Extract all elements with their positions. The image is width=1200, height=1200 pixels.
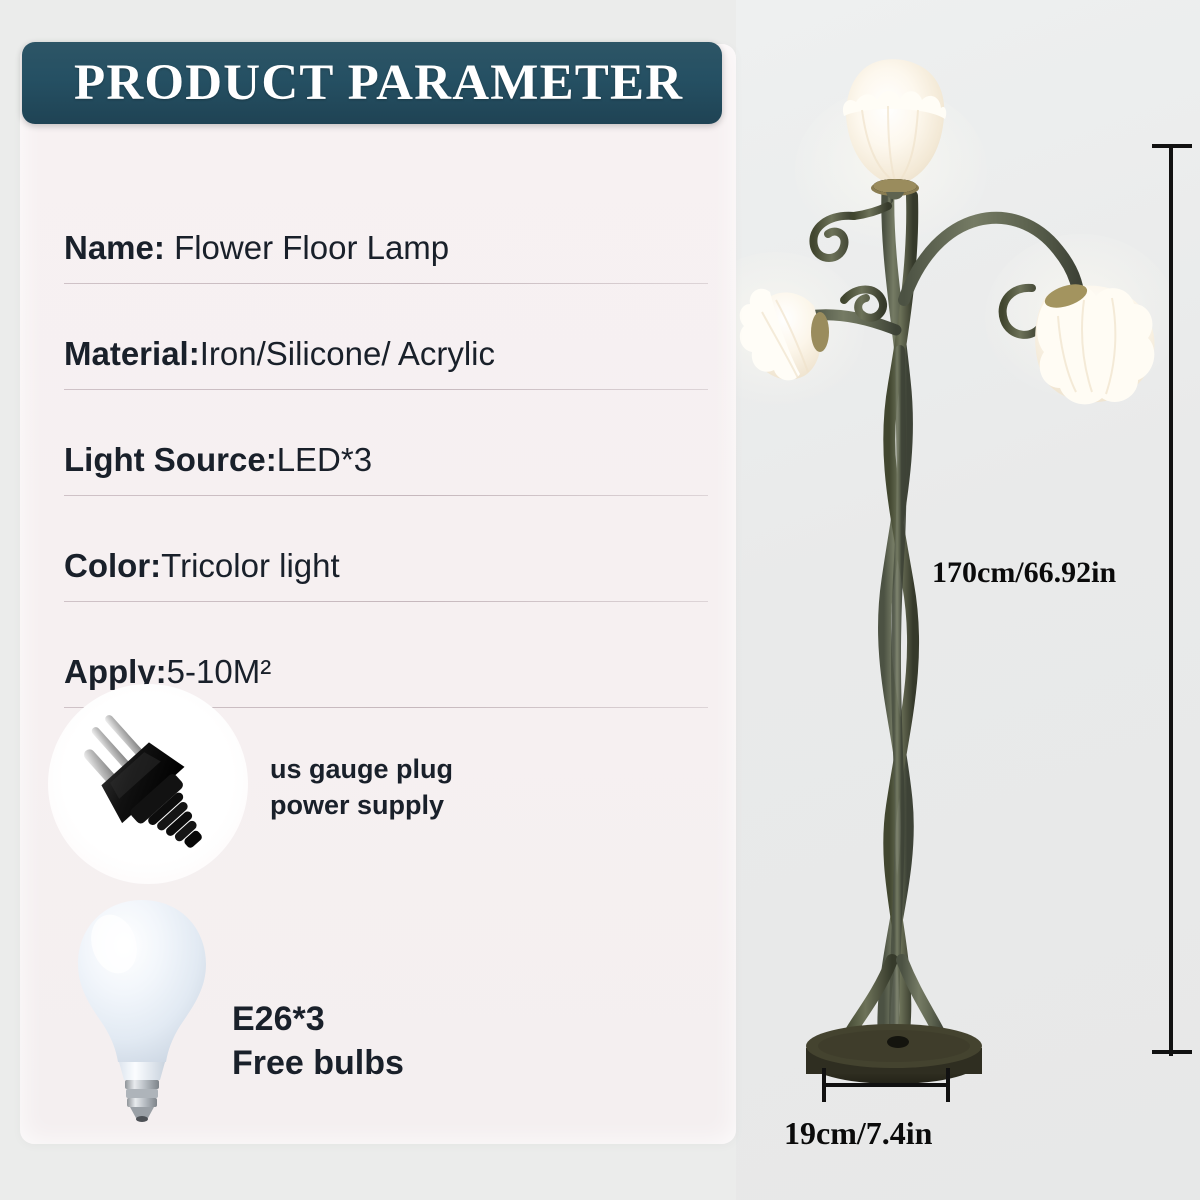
led-bulb-icon bbox=[62, 894, 222, 1122]
header-bar: PRODUCT PARAMETER bbox=[22, 42, 722, 124]
spec-label-light-source: Light Source bbox=[64, 441, 266, 478]
spec-value-name: Flower Floor Lamp bbox=[174, 229, 449, 266]
spec-value-light-source: LED*3 bbox=[277, 441, 372, 478]
height-dim-cap-bottom bbox=[1152, 1050, 1192, 1054]
spec-sep-color: : bbox=[150, 547, 161, 584]
width-dim-bar bbox=[824, 1083, 950, 1087]
spec-label-color: Color bbox=[64, 547, 150, 584]
spec-sep-material: : bbox=[189, 335, 200, 372]
height-dim-bar bbox=[1169, 146, 1173, 1056]
width-dim-cap-right bbox=[946, 1068, 950, 1102]
plug-caption: us gauge plug power supply bbox=[270, 752, 453, 823]
spec-row-color: Color:Tricolor light bbox=[64, 504, 708, 610]
spec-row-name: Name: Flower Floor Lamp bbox=[64, 186, 708, 292]
spec-sep-light-source: : bbox=[266, 441, 277, 478]
bulb-caption: E26*3 Free bulbs bbox=[232, 998, 404, 1085]
spec-sep-name: : bbox=[154, 229, 174, 266]
spec-label-name: Name bbox=[64, 229, 154, 266]
spec-divider bbox=[64, 389, 708, 390]
spec-label-material: Material bbox=[64, 335, 189, 372]
product-image-panel bbox=[736, 0, 1200, 1200]
spec-row-material: Material:Iron/Silicone/ Acrylic bbox=[64, 292, 708, 398]
page-title: PRODUCT PARAMETER bbox=[74, 58, 683, 109]
spec-divider bbox=[64, 495, 708, 496]
flower-floor-lamp-photo bbox=[736, 0, 1200, 1200]
bulb-feature: E26*3 Free bulbs bbox=[52, 894, 692, 1124]
spec-value-material: Iron/Silicone/ Acrylic bbox=[200, 335, 495, 372]
spec-divider bbox=[64, 283, 708, 284]
product-parameter-infographic: PRODUCT PARAMETER Name: Flower Floor Lam… bbox=[0, 0, 1200, 1200]
width-dimension-label: 19cm/7.4in bbox=[784, 1115, 932, 1152]
height-dimension-label: 170cm/66.92in bbox=[932, 556, 1116, 590]
plug-feature: us gauge plug power supply bbox=[48, 684, 688, 884]
us-power-plug-icon bbox=[56, 690, 246, 880]
spec-list: Name: Flower Floor Lamp Material:Iron/Si… bbox=[64, 186, 708, 716]
width-dimension-line bbox=[822, 1068, 952, 1102]
height-dimension-line bbox=[1152, 140, 1192, 1060]
spec-row-light-source: Light Source:LED*3 bbox=[64, 398, 708, 504]
spec-divider bbox=[64, 601, 708, 602]
spec-value-color: Tricolor light bbox=[161, 547, 340, 584]
